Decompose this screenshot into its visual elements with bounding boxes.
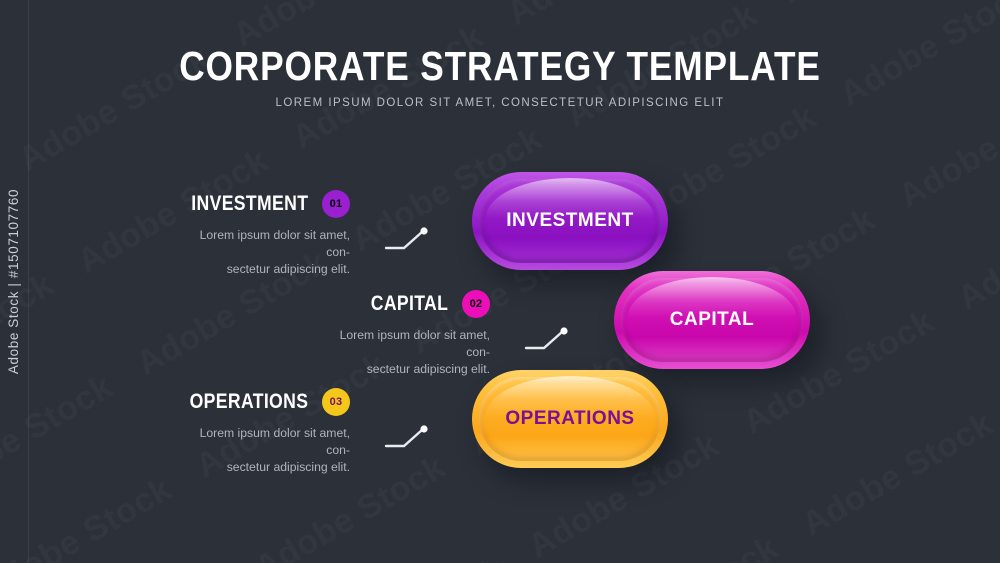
item-description: Lorem ipsum dolor sit amet, con- sectetu…	[190, 425, 350, 476]
item-title: OPERATIONS	[189, 390, 308, 414]
item-number-text: 03	[330, 396, 343, 408]
item-block-investment: INVESTMENT 01 Lorem ipsum dolor sit amet…	[190, 190, 350, 278]
header: CORPORATE STRATEGY TEMPLATE LOREM IPSUM …	[0, 44, 1000, 109]
watermark-text: Adobe Stock	[307, 550, 511, 563]
connector-arrow-capital	[524, 326, 578, 352]
page-title: CORPORATE STRATEGY TEMPLATE	[70, 44, 930, 88]
connector-arrow-operations	[384, 424, 438, 450]
item-description: Lorem ipsum dolor sit amet, con- sectetu…	[190, 227, 350, 278]
item-number-text: 02	[470, 298, 483, 310]
item-description: Lorem ipsum dolor sit amet, con- sectetu…	[330, 327, 490, 378]
item-title: CAPITAL	[371, 292, 448, 316]
item-number-text: 01	[330, 198, 343, 210]
item-heading-row: OPERATIONS 03	[190, 388, 350, 416]
page-subtitle: LOREM IPSUM DOLOR SIT AMET, CONSECTETUR …	[0, 97, 1000, 109]
item-block-capital: CAPITAL 02 Lorem ipsum dolor sit amet, c…	[330, 290, 490, 378]
pill-label: OPERATIONS	[505, 408, 634, 430]
pill-button-investment[interactable]: INVESTMENT	[472, 172, 668, 270]
watermark-text: Adobe Stock	[500, 0, 704, 33]
stock-credit-text: Adobe Stock | #1507107760	[7, 189, 22, 374]
item-block-operations: OPERATIONS 03 Lorem ipsum dolor sit amet…	[190, 388, 350, 476]
infographic-slide: Adobe Stock Adobe Stock Adobe Stock Adob…	[0, 0, 1000, 563]
item-heading-row: INVESTMENT 01	[190, 190, 350, 218]
item-number-badge: 02	[462, 290, 490, 318]
pill-label: INVESTMENT	[506, 210, 633, 232]
watermark-text: Adobe Stock	[795, 404, 999, 544]
item-number-badge: 03	[322, 388, 350, 416]
connector-arrow-investment	[384, 226, 438, 252]
pill-label: CAPITAL	[670, 309, 754, 331]
item-heading-row: CAPITAL 02	[330, 290, 490, 318]
pill-button-capital[interactable]: CAPITAL	[614, 271, 810, 369]
item-title: INVESTMENT	[191, 192, 308, 216]
watermark-text: Adobe Stock	[581, 528, 785, 563]
watermark-text: Adobe Stock	[951, 178, 1000, 318]
watermark-text: Adobe Stock	[774, 0, 978, 11]
item-number-badge: 01	[322, 190, 350, 218]
pill-button-operations[interactable]: OPERATIONS	[472, 370, 668, 468]
